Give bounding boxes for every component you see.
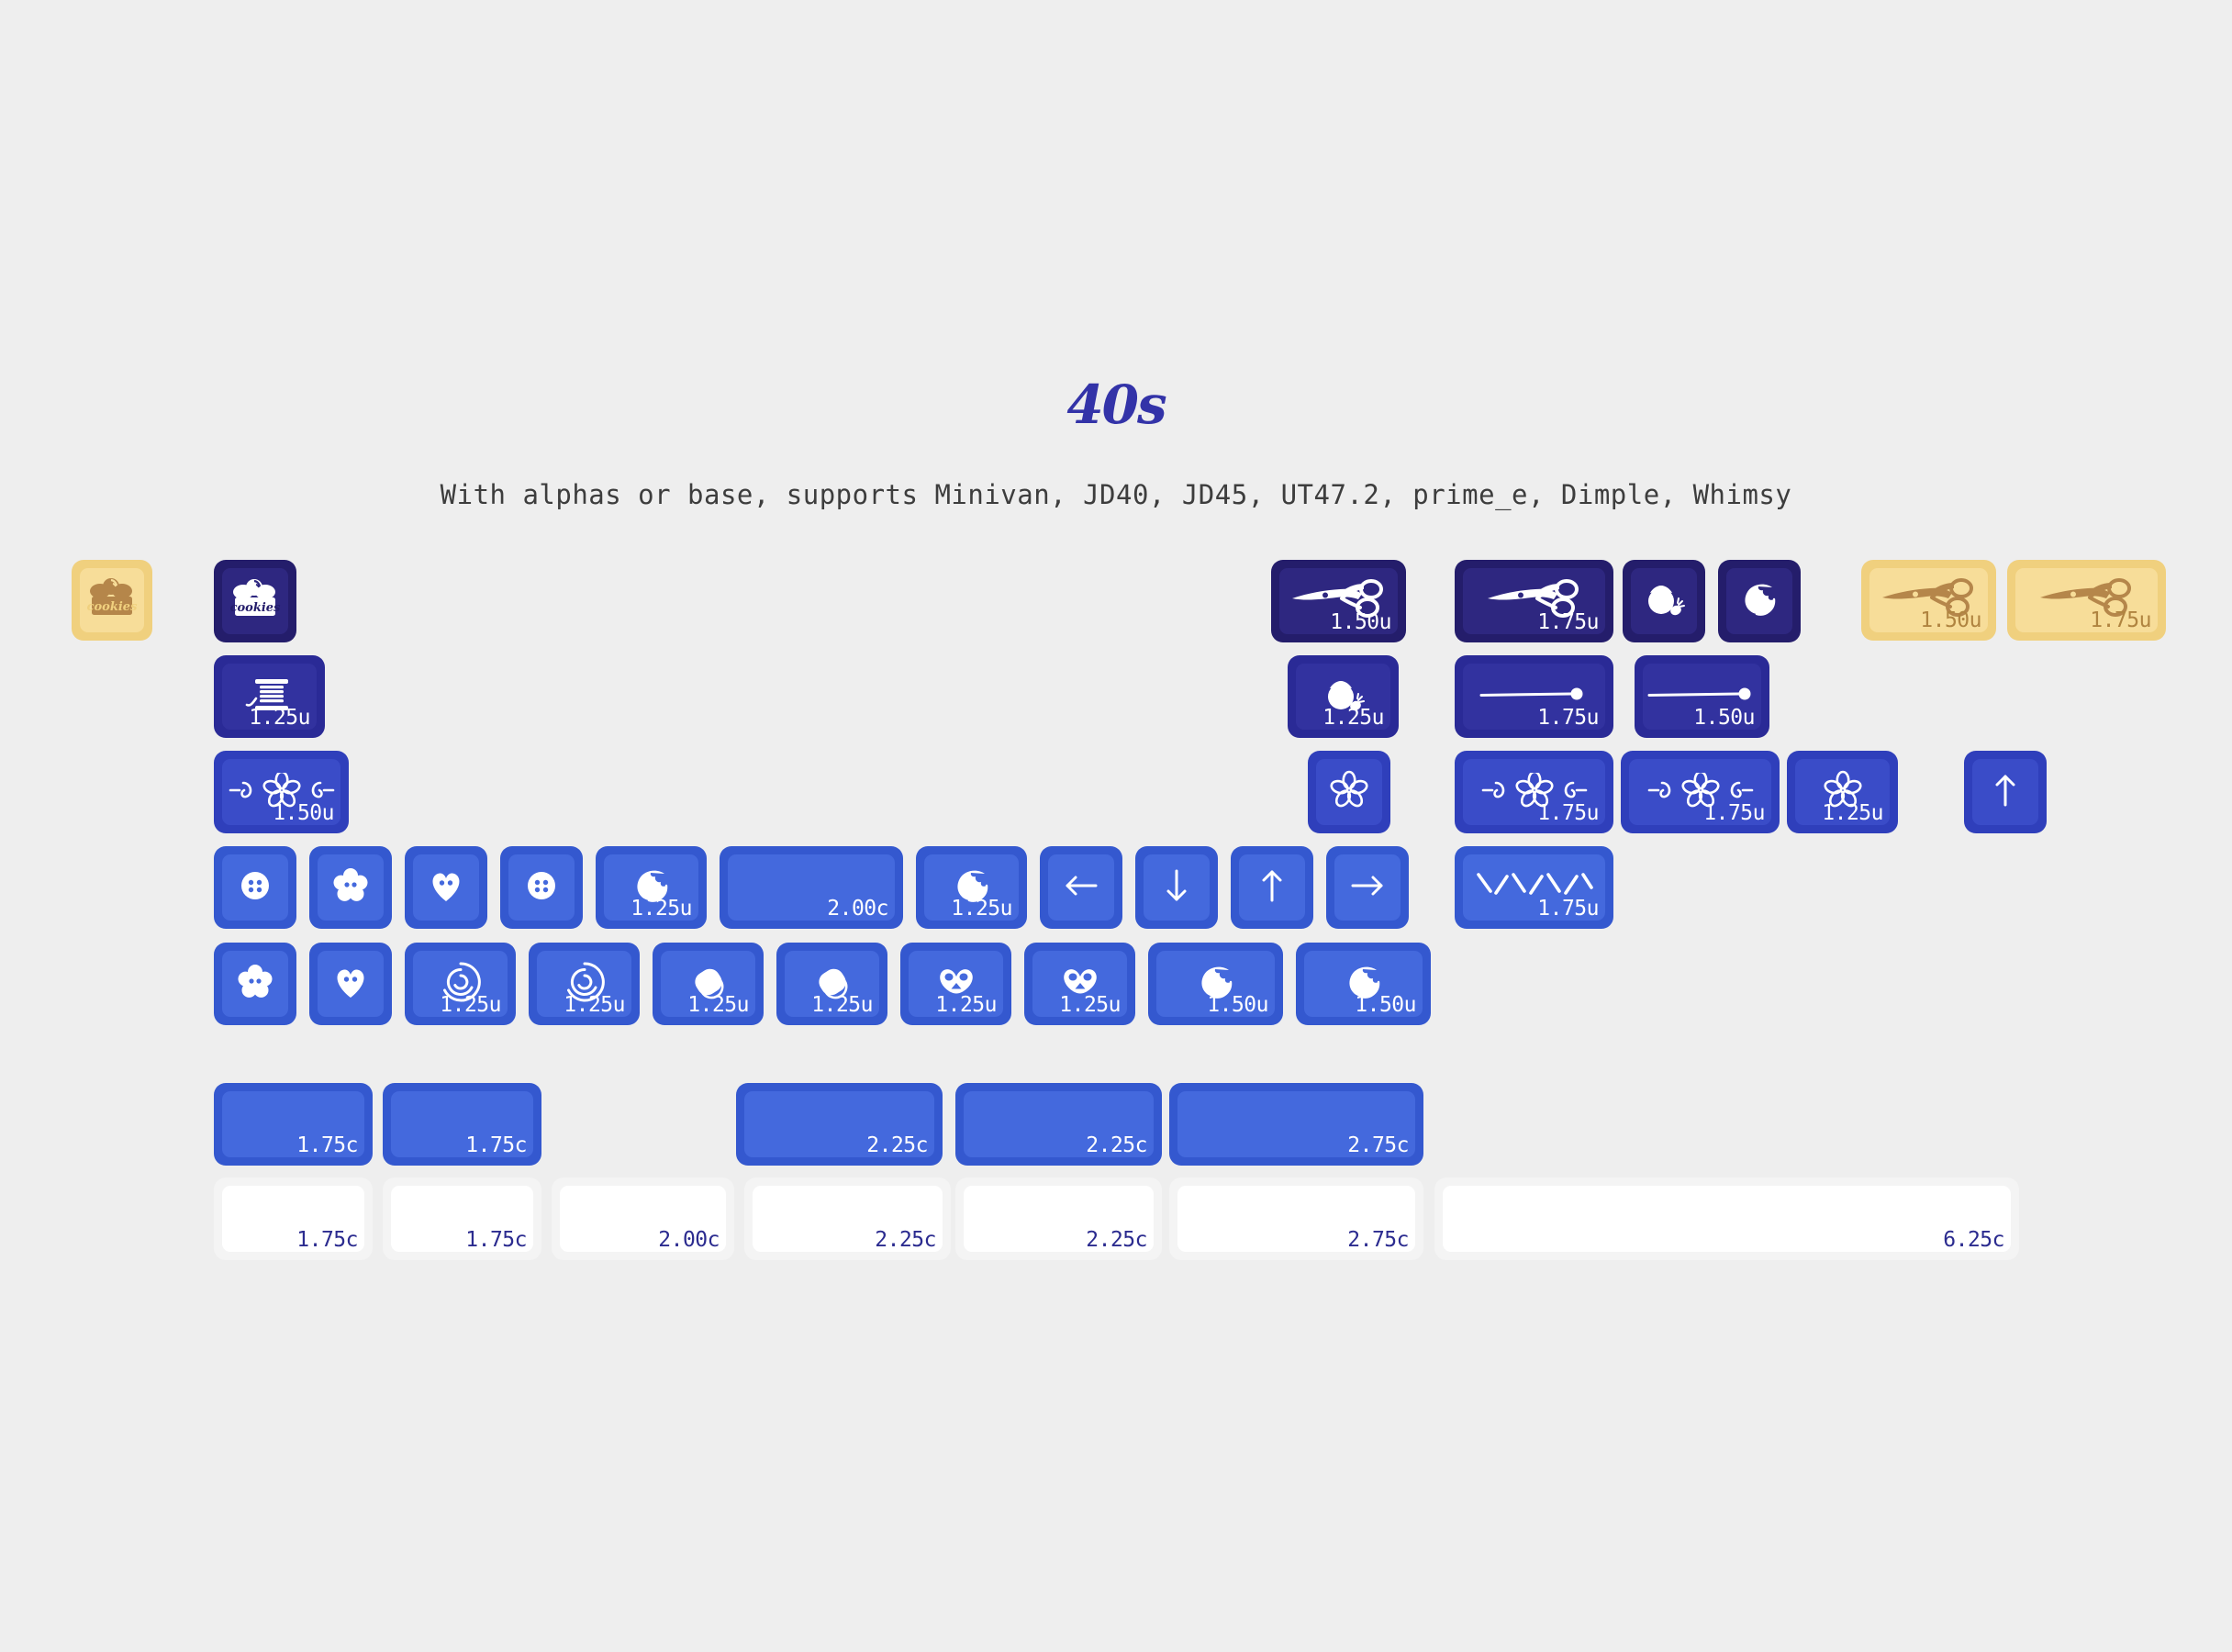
keycap-size-label: 1.25u	[951, 899, 1012, 920]
keycap-surface	[413, 854, 479, 921]
page-title: 40s	[0, 378, 2232, 431]
keycap-size-label: 1.25u	[1322, 708, 1384, 729]
keycap-scissors-1-50u-navy[interactable]: 1.50u	[1271, 560, 1406, 642]
keycap-surface: 1.75u	[1463, 664, 1605, 730]
keycap-surface: 1.75u	[2015, 568, 2158, 632]
keycap-size-label: 2.75c	[1347, 1135, 1409, 1156]
keycap-surface: 1.75c	[222, 1091, 364, 1157]
keycap-size-label: 2.25c	[866, 1135, 928, 1156]
svg-text:cookies: cookies	[230, 601, 281, 615]
keycap-surface	[1972, 759, 2038, 825]
keycap-surface: 1.50u	[222, 759, 340, 825]
keycap-surface: 1.75u	[1463, 568, 1605, 634]
keycap-size-label: 1.75u	[1537, 803, 1599, 824]
keycap-set-canvas: 40s With alphas or base, supports Miniva…	[0, 0, 2232, 1652]
keycap-size-label: 1.50u	[1207, 995, 1268, 1016]
keycap-spacebar-1-75c-blue-a[interactable]: 1.75c	[214, 1083, 373, 1166]
keycap-surface: 1.25u	[413, 951, 508, 1017]
keycap-cookies-jar-yellow[interactable]: cookies	[72, 560, 152, 641]
keycap-surface	[1316, 759, 1382, 825]
keycap-thread-spool[interactable]: 1.25u	[214, 655, 325, 738]
keycap-size-label: 1.75c	[465, 1135, 527, 1156]
keycap-zigzag-stitch-1-75u[interactable]: 1.75u	[1455, 846, 1613, 929]
keycap-size-label: 1.25u	[631, 899, 692, 920]
keycap-surface: 1.75u	[1629, 759, 1771, 825]
keycap-cookie-1-25u-b[interactable]: 1.25u	[916, 846, 1027, 929]
keycap-surface	[1239, 854, 1305, 921]
keycap-button-flower-b[interactable]	[214, 943, 296, 1025]
keycap-size-label: 2.00c	[827, 899, 888, 920]
keycap-pin-1-50u[interactable]: 1.50u	[1635, 655, 1769, 738]
keycap-pincushion-1-00u[interactable]	[1623, 560, 1705, 642]
keycap-swirl-1-25u-b[interactable]: 1.25u	[529, 943, 640, 1025]
button-round-icon	[508, 854, 575, 919]
keycap-spacebar-6-25c-white[interactable]: 6.25c	[1434, 1178, 2019, 1260]
keycap-size-label: 2.25c	[1086, 1135, 1147, 1156]
keycap-sakura-ornament-1-75u-a[interactable]: 1.75u	[1455, 751, 1613, 833]
keycap-spacebar-2-25c-white-b[interactable]: 2.25c	[955, 1178, 1162, 1260]
keycap-size-label: 1.50u	[1693, 708, 1755, 729]
button-heart-icon	[413, 854, 479, 919]
keycap-surface: cookies	[222, 568, 288, 634]
keycap-surface: 1.25u	[924, 854, 1019, 921]
keycap-marshmallow-1-25u-b[interactable]: 1.25u	[776, 943, 887, 1025]
keycap-surface: 1.25u	[1296, 664, 1390, 730]
keycap-surface: 1.75c	[391, 1186, 533, 1252]
keycap-surface: cookies	[80, 568, 144, 632]
keycap-size-label: 1.75u	[1703, 803, 1765, 824]
keycap-size-label: 1.75u	[1537, 899, 1599, 920]
keycap-spacebar-2-75c-white[interactable]: 2.75c	[1169, 1178, 1423, 1260]
keycap-surface: 2.00c	[728, 854, 895, 921]
keycap-surface: 1.50u	[1869, 568, 1988, 632]
keycap-size-label: 1.75u	[1537, 708, 1599, 729]
keycap-surface: 6.25c	[1443, 1186, 2011, 1252]
keycap-size-label: 1.25u	[1059, 995, 1121, 1016]
keycap-surface: 2.25c	[964, 1091, 1154, 1157]
keycap-surface: 1.75u	[1463, 759, 1605, 825]
keycap-spacebar-2-25c-blue-a[interactable]: 2.25c	[736, 1083, 943, 1166]
keycap-pin-1-75u[interactable]: 1.75u	[1455, 655, 1613, 738]
keycap-surface	[222, 951, 288, 1017]
keycap-sakura-1-25u[interactable]: 1.25u	[1787, 751, 1898, 833]
button-heart-icon	[318, 951, 384, 1015]
keycap-button-round-b[interactable]	[500, 846, 583, 929]
keycap-surface: 1.25u	[1795, 759, 1890, 825]
keycap-size-label: 6.25c	[1943, 1230, 2004, 1251]
keycap-button-round-a[interactable]	[214, 846, 296, 929]
keycap-button-heart-b[interactable]	[309, 943, 392, 1025]
keycap-size-label: 1.75u	[2090, 610, 2151, 631]
keycap-swirl-1-25u-a[interactable]: 1.25u	[405, 943, 516, 1025]
keycap-size-label: 1.50u	[273, 803, 334, 824]
keycap-arrow-left[interactable]	[1040, 846, 1122, 929]
keycap-pretzel-1-25u-a[interactable]: 1.25u	[900, 943, 1011, 1025]
keycap-scissors-1-75u-navy[interactable]: 1.75u	[1455, 560, 1613, 642]
keycap-arrow-up-right-cluster[interactable]	[1964, 751, 2047, 833]
arrow-down-icon	[1144, 854, 1210, 919]
keycap-surface	[1334, 854, 1401, 921]
keycap-spacebar-1-75c-blue-b[interactable]: 1.75c	[383, 1083, 541, 1166]
cookie-icon	[1726, 568, 1792, 632]
button-round-icon	[222, 854, 288, 919]
page-subtitle: With alphas or base, supports Minivan, J…	[0, 482, 2232, 508]
keycap-surface: 2.25c	[744, 1091, 934, 1157]
keycap-surface	[318, 854, 384, 921]
arrow-up-icon	[1972, 759, 2038, 823]
keycap-size-label: 1.50u	[1330, 612, 1391, 633]
keycap-surface	[1631, 568, 1697, 634]
keycap-size-label: 1.25u	[440, 995, 501, 1016]
pincushion-icon	[1631, 568, 1697, 632]
keycap-cookies-jar-navy[interactable]: cookies	[214, 560, 296, 642]
keycap-size-label: 1.50u	[1355, 995, 1416, 1016]
keycap-blank-2-00c[interactable]: 2.00c	[720, 846, 903, 929]
keycap-button-flower-a[interactable]	[309, 846, 392, 929]
keycap-surface: 1.75c	[222, 1186, 364, 1252]
keycap-cookie-1-00u-navy[interactable]	[1718, 560, 1801, 642]
keycap-cookie-1-25u-a[interactable]: 1.25u	[596, 846, 707, 929]
cookies-jar-icon: cookies	[80, 568, 144, 631]
keycap-cookie-1-50u-a[interactable]: 1.50u	[1148, 943, 1283, 1025]
button-flower-icon	[318, 854, 384, 919]
keycap-arrow-down[interactable]	[1135, 846, 1218, 929]
keycap-spacebar-2-25c-blue-b[interactable]: 2.25c	[955, 1083, 1162, 1166]
keycap-size-label: 1.75u	[1537, 612, 1599, 633]
cookies-jar-icon: cookies	[222, 568, 288, 632]
keycap-surface: 2.25c	[753, 1186, 943, 1252]
keycap-arrow-right[interactable]	[1326, 846, 1409, 929]
keycap-surface	[1144, 854, 1210, 921]
sakura-icon	[1316, 759, 1382, 823]
svg-text:cookies: cookies	[87, 600, 138, 614]
keycap-size-label: 1.25u	[687, 995, 749, 1016]
arrow-left-icon	[1048, 854, 1114, 919]
keycap-surface: 2.75c	[1177, 1186, 1415, 1252]
arrow-up-icon	[1239, 854, 1305, 919]
keycap-surface: 2.25c	[964, 1186, 1154, 1252]
keycap-surface: 1.25u	[909, 951, 1003, 1017]
keycap-surface: 1.25u	[604, 854, 698, 921]
keycap-surface	[1726, 568, 1792, 634]
keycap-sakura-1-00u[interactable]	[1308, 751, 1390, 833]
keycap-surface: 1.25u	[661, 951, 755, 1017]
keycap-size-label: 1.25u	[249, 708, 310, 729]
keycap-spacebar-1-75c-white-a[interactable]: 1.75c	[214, 1178, 373, 1260]
keycap-surface	[318, 951, 384, 1017]
keycap-scissors-1-75u-yellow[interactable]: 1.75u	[2007, 560, 2166, 641]
keycap-surface: 1.50u	[1279, 568, 1398, 634]
keycap-spacebar-2-75c-blue[interactable]: 2.75c	[1169, 1083, 1423, 1166]
keycap-sakura-ornament-1-50u[interactable]: 1.50u	[214, 751, 349, 833]
keycap-spacebar-1-75c-white-b[interactable]: 1.75c	[383, 1178, 541, 1260]
keycap-size-label: 1.25u	[811, 995, 873, 1016]
keycap-size-label: 2.00c	[658, 1230, 720, 1251]
keycap-surface: 1.50u	[1304, 951, 1423, 1017]
button-flower-icon	[222, 951, 288, 1015]
keycap-size-label: 1.25u	[1822, 803, 1883, 824]
keycap-surface: 1.25u	[785, 951, 879, 1017]
keycap-surface: 2.75c	[1177, 1091, 1415, 1157]
keycap-size-label: 1.75c	[296, 1135, 358, 1156]
keycap-surface: 1.75u	[1463, 854, 1605, 921]
keycap-size-label: 2.25c	[875, 1230, 936, 1251]
keycap-pincushion-1-25u[interactable]: 1.25u	[1288, 655, 1399, 738]
keycap-sakura-ornament-1-75u-b[interactable]: 1.75u	[1621, 751, 1780, 833]
keycap-surface	[1048, 854, 1114, 921]
keycap-surface	[222, 854, 288, 921]
keycap-spacebar-2-00c-white[interactable]: 2.00c	[552, 1178, 734, 1260]
keycap-surface: 1.75c	[391, 1091, 533, 1157]
keycap-arrow-up[interactable]	[1231, 846, 1313, 929]
keycap-pretzel-1-25u-b[interactable]: 1.25u	[1024, 943, 1135, 1025]
keycap-size-label: 1.75c	[465, 1230, 527, 1251]
keycap-surface	[508, 854, 575, 921]
keycap-surface: 1.50u	[1156, 951, 1275, 1017]
keycap-surface: 1.50u	[1643, 664, 1761, 730]
keycap-surface: 1.25u	[537, 951, 631, 1017]
keycap-surface: 1.25u	[222, 664, 317, 730]
keycap-size-label: 1.25u	[564, 995, 625, 1016]
keycap-size-label: 1.75c	[296, 1230, 358, 1251]
keycap-scissors-1-50u-yellow[interactable]: 1.50u	[1861, 560, 1996, 641]
keycap-cookie-1-50u-b[interactable]: 1.50u	[1296, 943, 1431, 1025]
arrow-right-icon	[1334, 854, 1401, 919]
keycap-button-heart-a[interactable]	[405, 846, 487, 929]
keycap-marshmallow-1-25u-a[interactable]: 1.25u	[653, 943, 764, 1025]
keycap-size-label: 2.25c	[1086, 1230, 1147, 1251]
keycap-size-label: 1.25u	[935, 995, 997, 1016]
keycap-spacebar-2-25c-white-a[interactable]: 2.25c	[744, 1178, 951, 1260]
keycap-size-label: 2.75c	[1347, 1230, 1409, 1251]
keycap-surface: 2.00c	[560, 1186, 726, 1252]
keycap-surface: 1.25u	[1032, 951, 1127, 1017]
keycap-size-label: 1.50u	[1920, 610, 1981, 631]
